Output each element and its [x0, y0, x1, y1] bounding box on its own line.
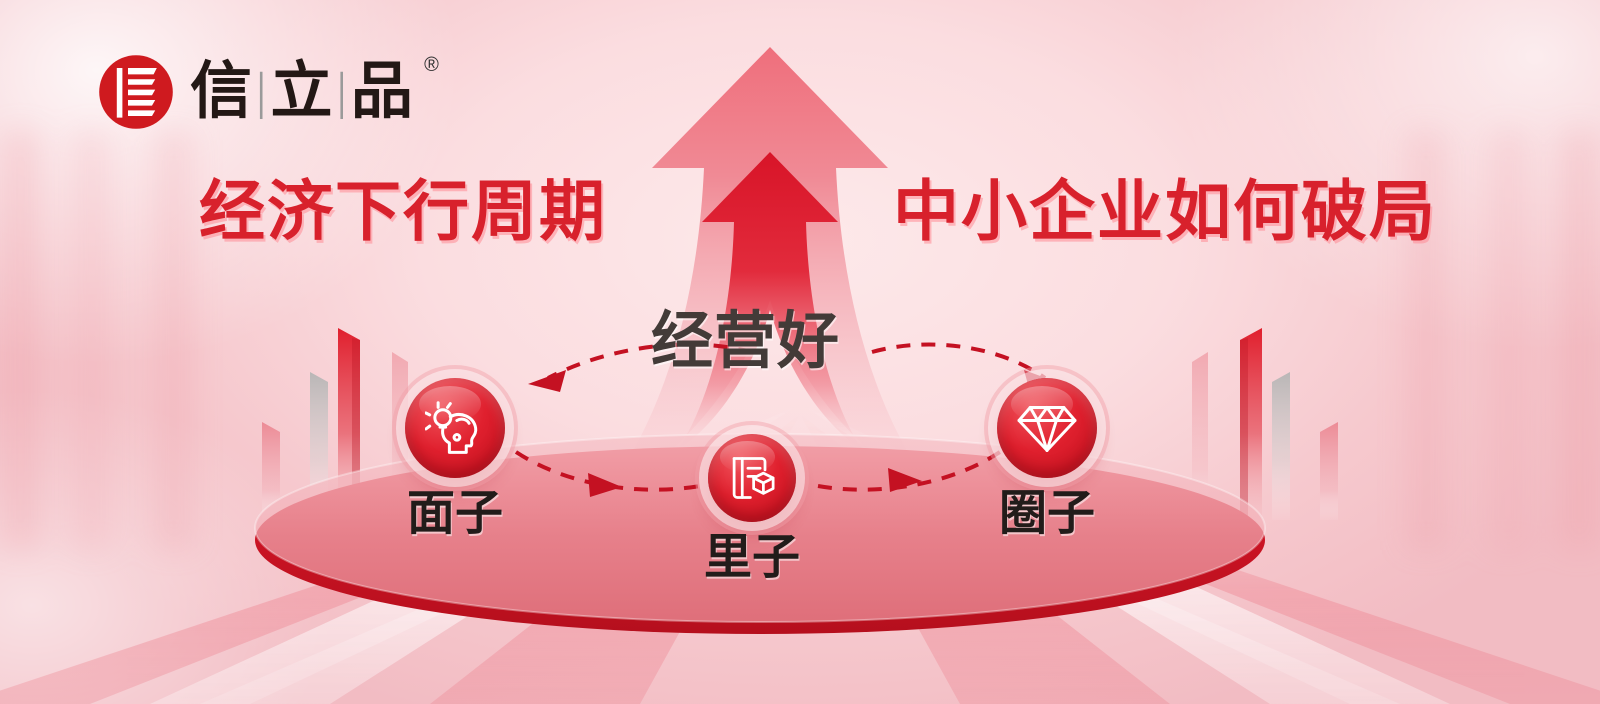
node-mianzi-disc[interactable]: [405, 378, 505, 478]
arrowhead-mid-left: [588, 473, 622, 497]
up-arrow-small: [678, 152, 862, 450]
brand-wordmark: 信|立|品®: [190, 61, 415, 123]
wordmark-char-2: 立: [270, 58, 334, 126]
arrowhead-left: [528, 370, 566, 392]
head-lightbulb-idea-icon: [425, 398, 485, 458]
brand-logo[interactable]: 信|立|品®: [96, 52, 415, 132]
headline-right: 中小企业如何破局: [893, 178, 1437, 244]
node-quanzi[interactable]: 圈子: [997, 378, 1097, 478]
center-title: 经营好: [651, 311, 840, 373]
xinlipin-seal-icon: [96, 52, 176, 132]
wordmark-separator-1: |: [254, 63, 270, 120]
node-lizi-disc[interactable]: [708, 434, 796, 522]
wordmark-char-1: 信: [190, 58, 254, 126]
node-mianzi-label: 面子: [407, 490, 503, 538]
node-quanzi-label: 圈子: [999, 490, 1095, 538]
wordmark-char-3: 品: [351, 58, 415, 126]
node-quanzi-disc[interactable]: [997, 378, 1097, 478]
node-lizi-label: 里子: [704, 534, 800, 582]
arc-center-to-right: [872, 344, 1045, 378]
document-cube-icon: [726, 452, 778, 504]
node-mianzi[interactable]: 面子: [405, 378, 505, 478]
headline-left: 经济下行周期: [199, 178, 607, 244]
arrowhead-mid-right: [888, 468, 922, 492]
node-lizi[interactable]: 里子: [708, 434, 796, 522]
promo-banner: 信|立|品® 经济下行周期 中小企业如何破局 经营好: [0, 0, 1600, 704]
arc-center-to-right-lower: [818, 452, 1000, 490]
wordmark-separator-2: |: [334, 63, 350, 120]
diamond-gem-icon: [1017, 400, 1077, 456]
arc-left-to-center: [516, 452, 700, 490]
registered-mark: ®: [424, 55, 441, 75]
